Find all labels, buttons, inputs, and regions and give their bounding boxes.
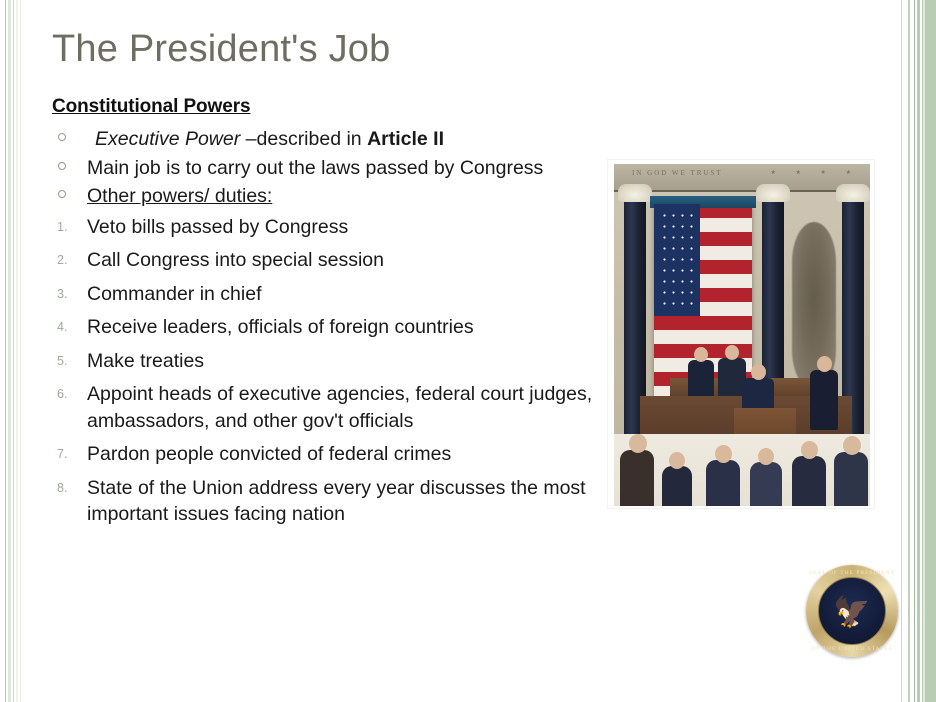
- list-item: Executive Power –described in Article II: [52, 126, 612, 153]
- standing-official: [810, 370, 838, 430]
- stars-decoration: ★ ★ ★ ★: [770, 169, 860, 176]
- circle-bullet-icon: [58, 162, 66, 170]
- page-title: The President's Job: [52, 28, 390, 71]
- bullet-part-regular: –described in: [246, 128, 367, 150]
- audience-member: [792, 456, 826, 506]
- item-text: Pardon people convicted of federal crime…: [87, 443, 451, 465]
- bullet-text: Executive Power –described in Article II: [87, 126, 444, 153]
- presidential-seal-icon: SEAL OF THE PRESIDENT 🦅 OF THE UNITED ST…: [806, 565, 898, 657]
- audience-member: [750, 462, 782, 506]
- item-number: 3.: [57, 286, 79, 303]
- right-border-stripes: [896, 0, 936, 702]
- item-number: 8.: [57, 480, 79, 497]
- bullet-part-bold: Article II: [367, 128, 444, 150]
- item-number: 4.: [57, 319, 79, 336]
- seal-bottom-text: OF THE UNITED STATES: [806, 646, 898, 652]
- numbered-list-item: 8. State of the Union address every year…: [52, 475, 612, 528]
- item-text: Appoint heads of executive agencies, fed…: [87, 383, 592, 432]
- in-god-we-trust-inscription: IN GOD WE TRUST: [632, 169, 723, 177]
- seal-top-text: SEAL OF THE PRESIDENT: [806, 570, 898, 576]
- state-of-the-union-photo: IN GOD WE TRUST ★ ★ ★ ★: [608, 160, 874, 508]
- content-body: Constitutional Powers Executive Power –d…: [52, 96, 612, 535]
- item-number: 1.: [57, 219, 79, 236]
- audience-member: [834, 452, 868, 506]
- list-item: Other powers/ duties:: [52, 183, 612, 210]
- section-heading: Constitutional Powers: [52, 96, 612, 118]
- constitutional-powers-bullet-list: Executive Power –described in Article II…: [52, 126, 612, 210]
- item-number: 2.: [57, 252, 79, 269]
- numbered-list-item: 7. Pardon people convicted of federal cr…: [52, 441, 612, 468]
- bullet-text: Other powers/ duties:: [87, 185, 272, 207]
- seal-eagle-icon: 🦅: [833, 598, 870, 628]
- circle-bullet-icon: [58, 133, 66, 141]
- item-text: Receive leaders, officials of foreign co…: [87, 316, 474, 338]
- item-number: 5.: [57, 353, 79, 370]
- audience-member: [620, 450, 654, 506]
- bullet-text: Main job is to carry out the laws passed…: [87, 157, 543, 179]
- audience-row: [614, 434, 870, 506]
- item-text: Call Congress into special session: [87, 249, 384, 271]
- flag-canton: [654, 204, 700, 316]
- list-item: Main job is to carry out the laws passed…: [52, 155, 612, 182]
- audience-member: [662, 466, 692, 506]
- audience-member: [706, 460, 740, 506]
- item-text: Make treaties: [87, 350, 204, 372]
- item-text: State of the Union address every year di…: [87, 477, 586, 526]
- item-number: 7.: [57, 446, 79, 463]
- left-border-stripes: [0, 0, 26, 702]
- numbered-list-item: 4. Receive leaders, officials of foreign…: [52, 314, 612, 341]
- item-number: 6.: [57, 386, 79, 403]
- other-powers-numbered-list: 1. Veto bills passed by Congress 2. Call…: [52, 214, 612, 528]
- circle-bullet-icon: [58, 190, 66, 198]
- numbered-list-item: 1. Veto bills passed by Congress: [52, 214, 612, 241]
- numbered-list-item: 2. Call Congress into special session: [52, 247, 612, 274]
- slide-canvas: The President's Job Constitutional Power…: [0, 0, 936, 702]
- item-text: Veto bills passed by Congress: [87, 216, 348, 238]
- item-text: Commander in chief: [87, 283, 262, 305]
- photo-frame: IN GOD WE TRUST ★ ★ ★ ★: [614, 164, 870, 506]
- numbered-list-item: 3. Commander in chief: [52, 281, 612, 308]
- numbered-list-item: 6. Appoint heads of executive agencies, …: [52, 381, 612, 434]
- bullet-part-italic: Executive Power: [95, 128, 246, 150]
- numbered-list-item: 5. Make treaties: [52, 348, 612, 375]
